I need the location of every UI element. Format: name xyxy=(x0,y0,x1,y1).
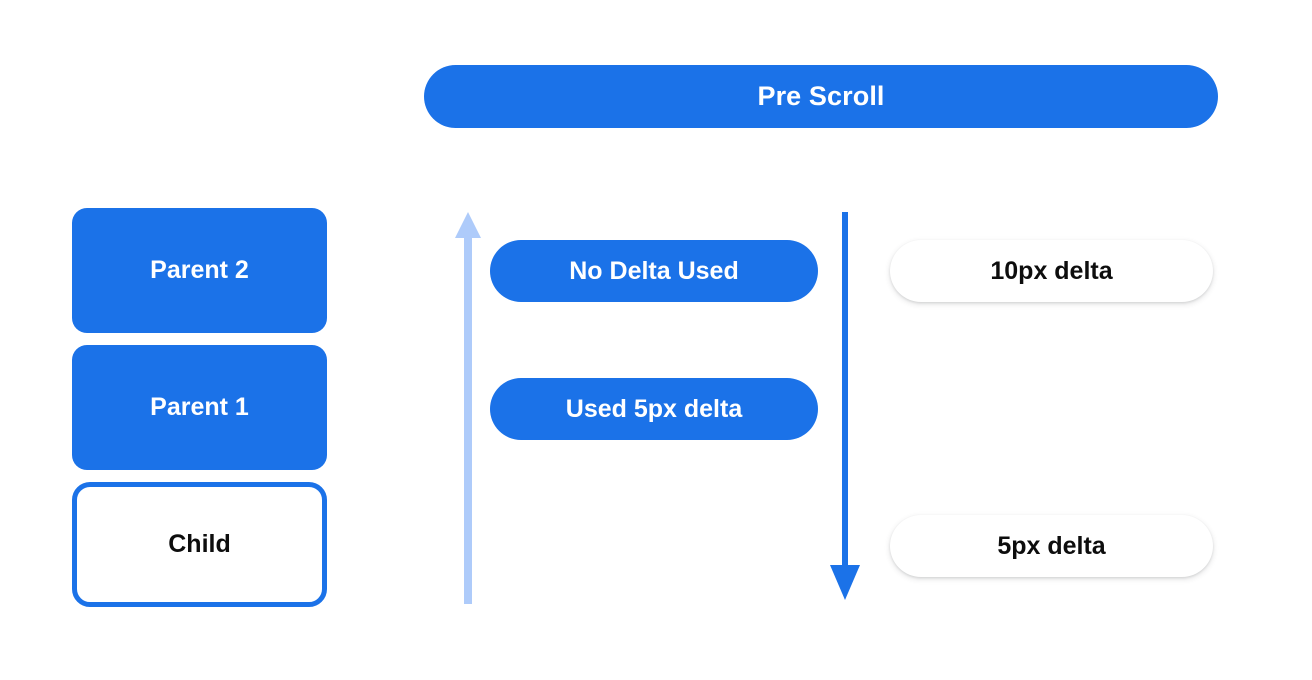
scroll-down-arrow-icon xyxy=(829,210,861,604)
node-box-parent-2: Parent 2 xyxy=(72,208,327,333)
right-pill-label-2: 5px delta xyxy=(997,532,1105,561)
node-stack: Parent 2 Parent 1 Child xyxy=(72,208,327,607)
right-pill-10px-delta: 10px delta xyxy=(890,240,1213,302)
pre-scroll-header-pill: Pre Scroll xyxy=(424,65,1218,128)
scroll-up-arrow-icon xyxy=(452,208,484,606)
node-box-child: Child xyxy=(72,482,327,607)
diagram-canvas: Pre Scroll Parent 2 Parent 1 Child No De… xyxy=(0,0,1312,680)
right-pill-label-1: 10px delta xyxy=(990,257,1112,286)
pre-scroll-header-label: Pre Scroll xyxy=(757,81,884,112)
node-label-child: Child xyxy=(168,530,231,559)
middle-pill-label-1: No Delta Used xyxy=(569,257,738,286)
node-label-parent-2: Parent 2 xyxy=(150,256,249,285)
middle-pill-no-delta-used: No Delta Used xyxy=(490,240,818,302)
middle-pill-label-2: Used 5px delta xyxy=(566,395,742,424)
middle-pill-used-5px-delta: Used 5px delta xyxy=(490,378,818,440)
node-box-parent-1: Parent 1 xyxy=(72,345,327,470)
node-label-parent-1: Parent 1 xyxy=(150,393,249,422)
right-pill-5px-delta: 5px delta xyxy=(890,515,1213,577)
